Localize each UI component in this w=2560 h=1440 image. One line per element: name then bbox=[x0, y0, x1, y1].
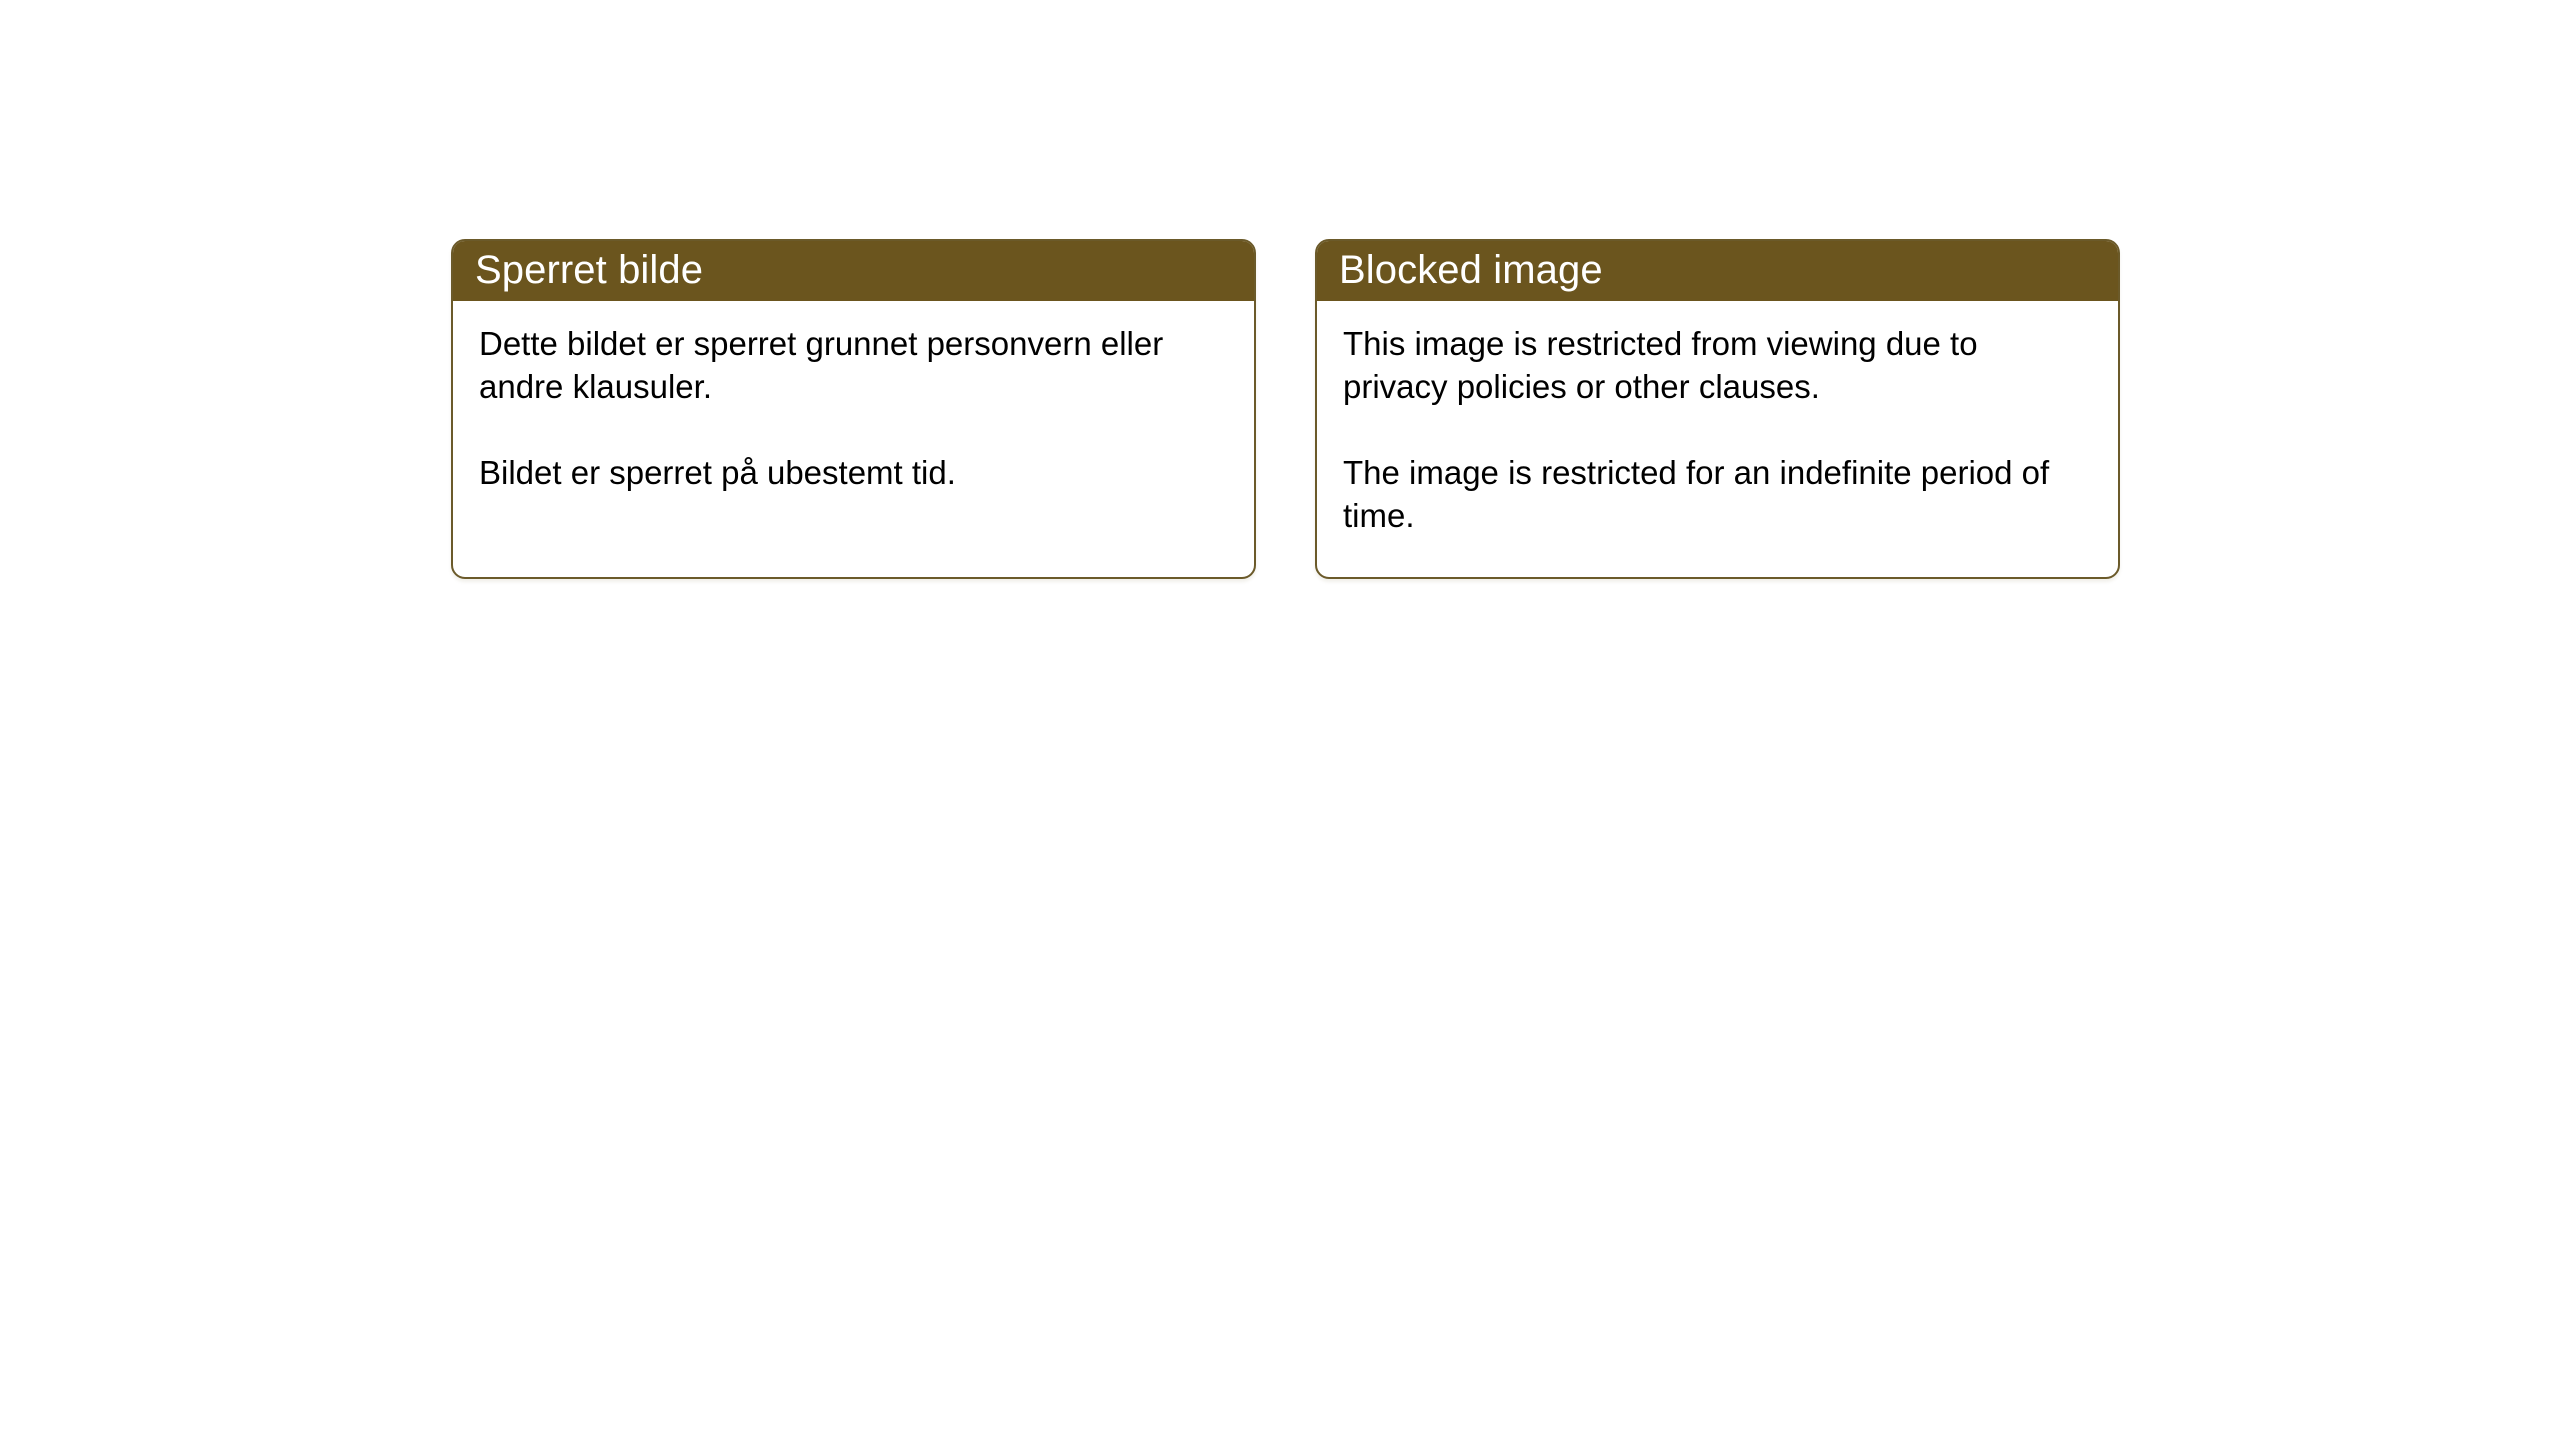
card-body-english: This image is restricted from viewing du… bbox=[1317, 301, 2118, 537]
card-header-english: Blocked image bbox=[1315, 239, 2120, 301]
card-title-english: Blocked image bbox=[1339, 249, 1603, 291]
blocked-image-card-norwegian: Sperret bilde Dette bildet er sperret gr… bbox=[451, 239, 1256, 579]
card-paragraph-reason-english: This image is restricted from viewing du… bbox=[1343, 322, 2083, 408]
card-paragraph-duration-norwegian: Bildet er sperret på ubestemt tid. bbox=[479, 451, 1219, 494]
card-body-norwegian: Dette bildet er sperret grunnet personve… bbox=[453, 301, 1254, 494]
blocked-image-notice-area: Sperret bilde Dette bildet er sperret gr… bbox=[0, 0, 2560, 1440]
card-paragraph-duration-english: The image is restricted for an indefinit… bbox=[1343, 451, 2083, 537]
card-paragraph-reason-norwegian: Dette bildet er sperret grunnet personve… bbox=[479, 322, 1219, 408]
card-title-norwegian: Sperret bilde bbox=[475, 249, 703, 291]
card-header-norwegian: Sperret bilde bbox=[451, 239, 1256, 301]
blocked-image-card-english: Blocked image This image is restricted f… bbox=[1315, 239, 2120, 579]
